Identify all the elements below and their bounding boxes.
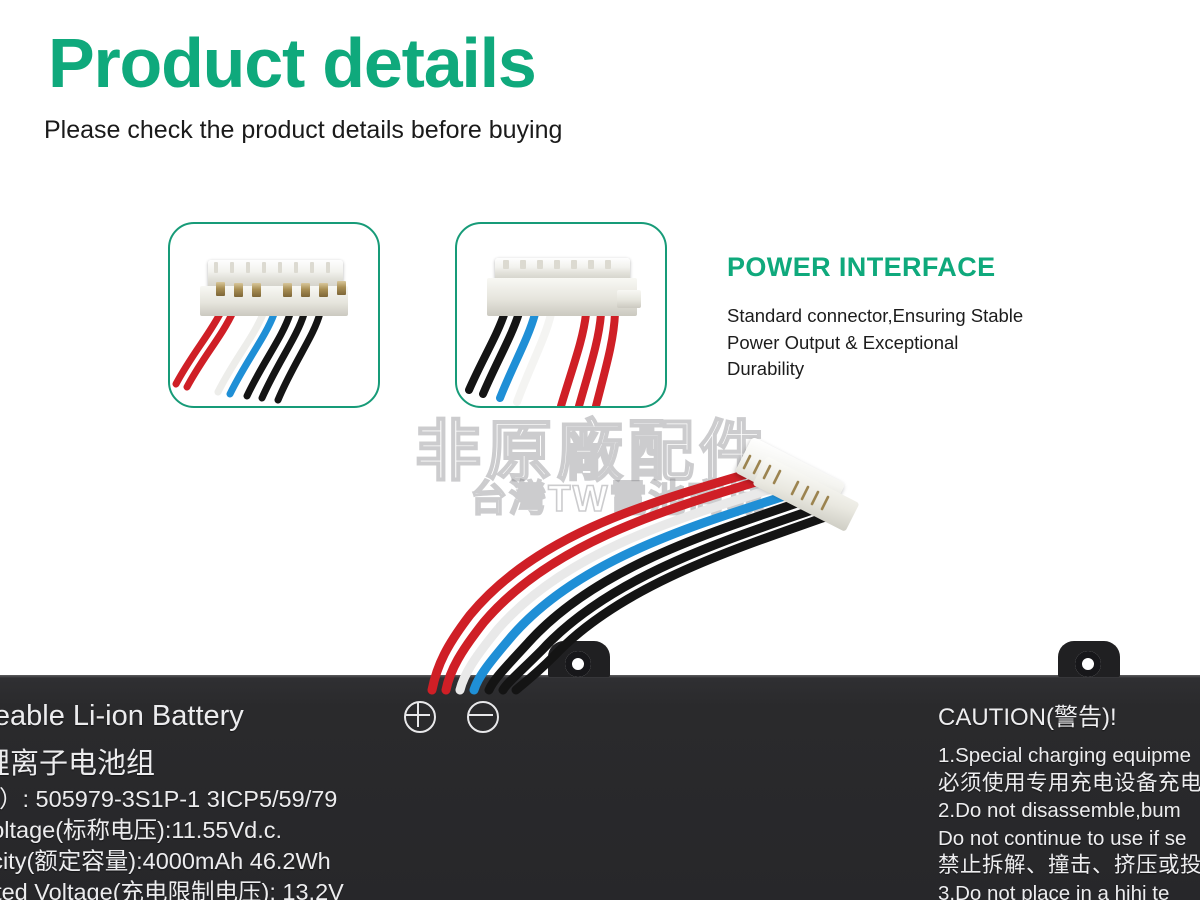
housing-notch (278, 262, 282, 273)
housing-notch (326, 262, 330, 273)
polarity-negative-icon (467, 701, 499, 733)
watermark-primary: 非原廠配件 (415, 398, 770, 494)
power-interface-description: Standard connector,Ensuring Stable Power… (727, 303, 1037, 383)
battery-label-line: 型号）: 505979-3S1P-1 3ICP5/59/79 (0, 780, 337, 814)
connector-pin (283, 283, 292, 297)
connector-latch (617, 290, 641, 308)
housing-notch (588, 260, 594, 269)
product-details-page: Product details Please check the product… (0, 0, 1200, 900)
battery-label-line: Limited Voltage(充电限制电压): 13.2V (0, 873, 344, 900)
housing-notch (262, 262, 266, 273)
polarity-positive-icon (404, 701, 436, 733)
battery-connector (720, 430, 870, 540)
page-title: Product details (48, 24, 536, 102)
connector-pin (337, 281, 346, 295)
housing-notch (214, 262, 218, 273)
caution-line: 必须使用专用充电设备充电。 (938, 770, 1200, 798)
connector-pin (319, 283, 328, 297)
connector-pin (252, 283, 261, 297)
battery-label-line: 式锂离子电池组 (0, 740, 155, 782)
housing-notch (310, 262, 314, 273)
housing-notch (294, 262, 298, 273)
power-interface-heading: POWER INTERFACE (727, 252, 996, 283)
battery-label-line: apacity(额定容量):4000mAh 46.2Wh (0, 842, 331, 876)
battery-caution-block: CAUTION(警告)! 1.Special charging equipme … (938, 703, 1200, 900)
housing-notch (246, 262, 250, 273)
battery-mount-tab-left (548, 641, 610, 677)
connector-pin (234, 283, 243, 297)
battery-label-line: argeable Li-ion Battery (0, 700, 244, 733)
connector-pin (301, 283, 310, 297)
page-subtitle: Please check the product details before … (44, 113, 562, 147)
caution-line: 2.Do not disassemble,bum (938, 797, 1200, 825)
housing-notch (605, 260, 611, 269)
caution-line: 3.Do not place in a hihi te (938, 880, 1200, 900)
housing-notch (520, 260, 526, 269)
connector-pin (216, 282, 225, 296)
caution-line: 禁止拆解、撞击、挤压或投入 (938, 852, 1200, 880)
housing-notch (571, 260, 577, 269)
caution-line: 1.Special charging equipme (938, 742, 1200, 770)
battery-label-line: al Voltage(标称电压):11.55Vd.c. (0, 811, 282, 845)
housing-notch (230, 262, 234, 273)
connector-photo-back (455, 222, 667, 408)
housing-notch (554, 260, 560, 269)
caution-heading: CAUTION(警告)! (938, 703, 1200, 733)
caution-line: Do not continue to use if se (938, 825, 1200, 853)
housing-notch (537, 260, 543, 269)
connector-pins (720, 430, 870, 540)
connector-housing-lower (487, 278, 637, 316)
housing-notch (503, 260, 509, 269)
connector-photo-front (168, 222, 380, 408)
battery-mount-tab-right (1058, 641, 1120, 677)
